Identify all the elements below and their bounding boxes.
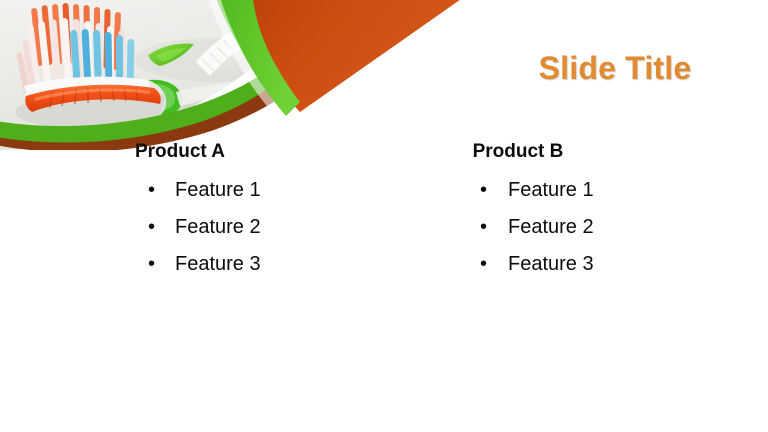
- list-item[interactable]: • Feature 3: [368, 246, 668, 283]
- product-b-feature-list: • Feature 1 • Feature 2 • Feature 3: [368, 172, 668, 283]
- product-b-heading[interactable]: Product B: [368, 140, 668, 164]
- toothbrush-photo-banner: [0, 0, 500, 150]
- banner-artwork: [0, 0, 500, 150]
- bullet-icon: •: [148, 246, 155, 283]
- product-a-column: Product A • Feature 1 • Feature 2 • Feat…: [30, 140, 330, 283]
- feature-label: Feature 2: [508, 216, 594, 238]
- product-a-heading[interactable]: Product A: [30, 140, 330, 164]
- list-item[interactable]: • Feature 3: [30, 246, 330, 283]
- bullet-icon: •: [148, 172, 155, 209]
- bullet-icon: •: [480, 172, 487, 209]
- page-title[interactable]: Slide Title: [470, 50, 760, 87]
- product-a-feature-list: • Feature 1 • Feature 2 • Feature 3: [30, 172, 330, 283]
- feature-label: Feature 1: [175, 179, 261, 201]
- list-item[interactable]: • Feature 1: [30, 172, 330, 209]
- bullet-icon: •: [480, 209, 487, 246]
- feature-label: Feature 2: [175, 216, 261, 238]
- list-item[interactable]: • Feature 2: [30, 209, 330, 246]
- feature-label: Feature 3: [508, 253, 594, 275]
- bullet-icon: •: [480, 246, 487, 283]
- list-item[interactable]: • Feature 2: [368, 209, 668, 246]
- feature-label: Feature 3: [175, 253, 261, 275]
- feature-label: Feature 1: [508, 179, 594, 201]
- list-item[interactable]: • Feature 1: [368, 172, 668, 209]
- bullet-icon: •: [148, 209, 155, 246]
- product-b-column: Product B • Feature 1 • Feature 2 • Feat…: [368, 140, 668, 283]
- slide-canvas: Slide Title Product A • Feature 1 • Feat…: [0, 0, 768, 432]
